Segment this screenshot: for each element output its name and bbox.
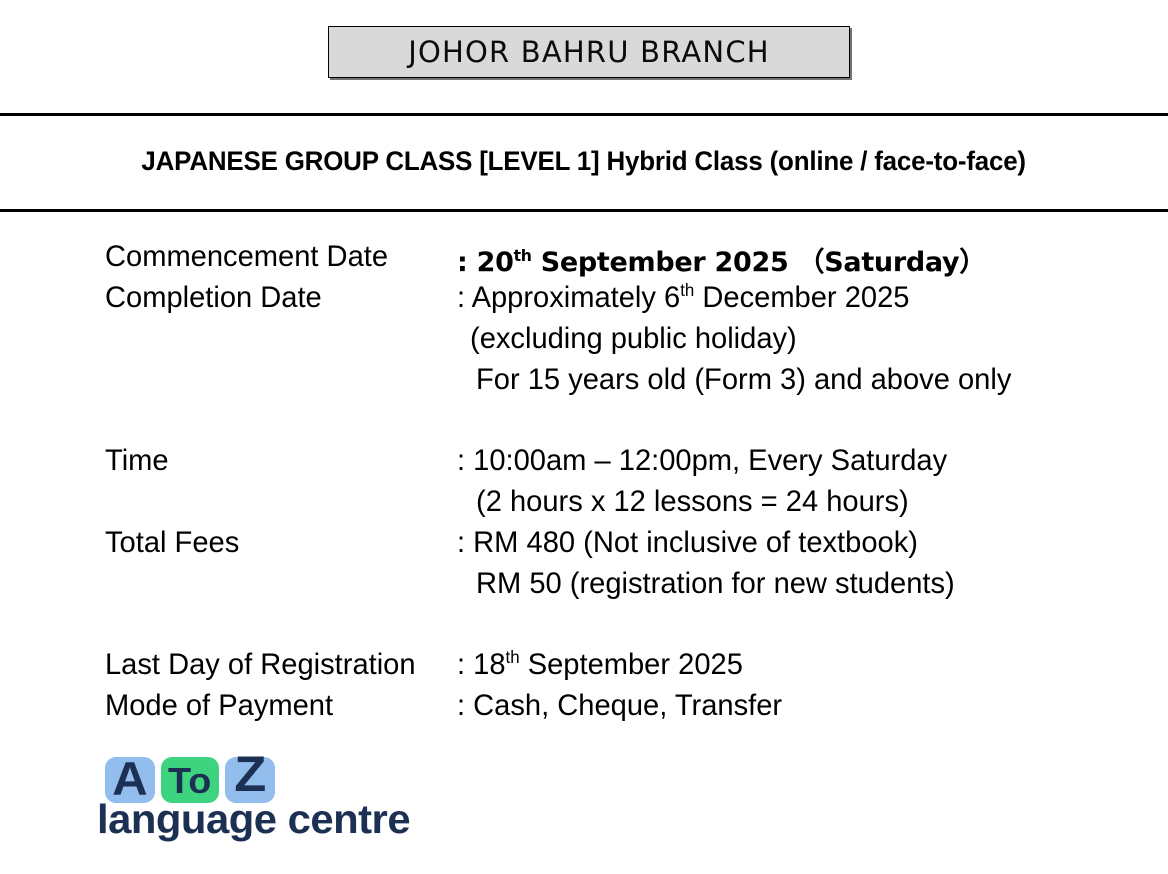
- detail-row-commencement-date: Commencement Date : 20th September 2025 …: [0, 240, 1168, 281]
- detail-value-ordinal: th: [514, 246, 532, 265]
- branch-box: JOHOR BAHRU BRANCH: [328, 26, 850, 78]
- detail-value-prefix: : 18: [457, 648, 506, 681]
- detail-label: Time: [105, 444, 169, 478]
- detail-value: : Cash, Cheque, Transfer: [457, 689, 782, 723]
- detail-label: Commencement Date: [105, 240, 388, 274]
- detail-value: : 18th September 2025: [457, 648, 743, 682]
- detail-value: : 10:00am – 12:00pm, Every Saturday: [457, 444, 947, 478]
- detail-row-last-day-registration: Last Day of Registration : 18th Septembe…: [0, 648, 1168, 689]
- branch-header: JOHOR BAHRU BRANCH: [0, 0, 1168, 104]
- detail-value: For 15 years old (Form 3) and above only: [476, 363, 1011, 397]
- detail-value-suffix: September 2025 （Saturday）: [532, 247, 986, 278]
- detail-value: (2 hours x 12 lessons = 24 hours): [476, 485, 909, 519]
- divider-bottom: [0, 209, 1168, 212]
- section-spacer: [0, 608, 1168, 648]
- detail-label: Completion Date: [105, 281, 322, 315]
- course-title-band: JAPANESE GROUP CLASS [LEVEL 1] Hybrid Cl…: [0, 113, 1168, 209]
- detail-label: Mode of Payment: [105, 689, 333, 723]
- logo-letter-z: Z: [234, 749, 266, 799]
- detail-value-suffix: December 2025: [694, 281, 909, 314]
- detail-value-ordinal: th: [680, 280, 694, 300]
- detail-label: Last Day of Registration: [105, 648, 416, 682]
- detail-row-excluding-holiday: (excluding public holiday): [0, 322, 1168, 363]
- detail-row-completion-date: Completion Date : Approximately 6th Dece…: [0, 281, 1168, 322]
- logo-letter-a: A: [112, 755, 148, 802]
- detail-value-suffix: September 2025: [520, 648, 743, 681]
- a-to-z-language-centre-logo: A To Z language centre: [97, 757, 397, 849]
- detail-row-mode-of-payment: Mode of Payment : Cash, Cheque, Transfer: [0, 689, 1168, 730]
- course-details: Commencement Date : 20th September 2025 …: [0, 240, 1168, 730]
- detail-value-prefix: : Approximately 6: [457, 281, 680, 314]
- course-title: JAPANESE GROUP CLASS [LEVEL 1] Hybrid Cl…: [142, 146, 1026, 177]
- detail-row-age-requirement: For 15 years old (Form 3) and above only: [0, 363, 1168, 404]
- detail-row-lesson-breakdown: (2 hours x 12 lessons = 24 hours): [0, 485, 1168, 526]
- detail-value: RM 50 (registration for new students): [476, 567, 955, 601]
- branch-label: JOHOR BAHRU BRANCH: [408, 35, 770, 69]
- logo-letter-to: To: [168, 763, 211, 799]
- logo-wordmark: language centre: [97, 799, 410, 840]
- detail-value: : Approximately 6th December 2025: [457, 281, 909, 315]
- detail-value-ordinal: th: [506, 647, 520, 667]
- detail-value: (excluding public holiday): [470, 322, 797, 356]
- detail-value: : 20th September 2025 （Saturday）: [457, 240, 986, 279]
- section-spacer: [0, 404, 1168, 444]
- detail-row-registration-fee: RM 50 (registration for new students): [0, 567, 1168, 608]
- detail-row-time: Time : 10:00am – 12:00pm, Every Saturday: [0, 444, 1168, 485]
- detail-value: : RM 480 (Not inclusive of textbook): [457, 526, 918, 560]
- detail-label: Total Fees: [105, 526, 239, 560]
- detail-row-total-fees: Total Fees : RM 480 (Not inclusive of te…: [0, 526, 1168, 567]
- detail-value-prefix: : 20: [457, 247, 514, 278]
